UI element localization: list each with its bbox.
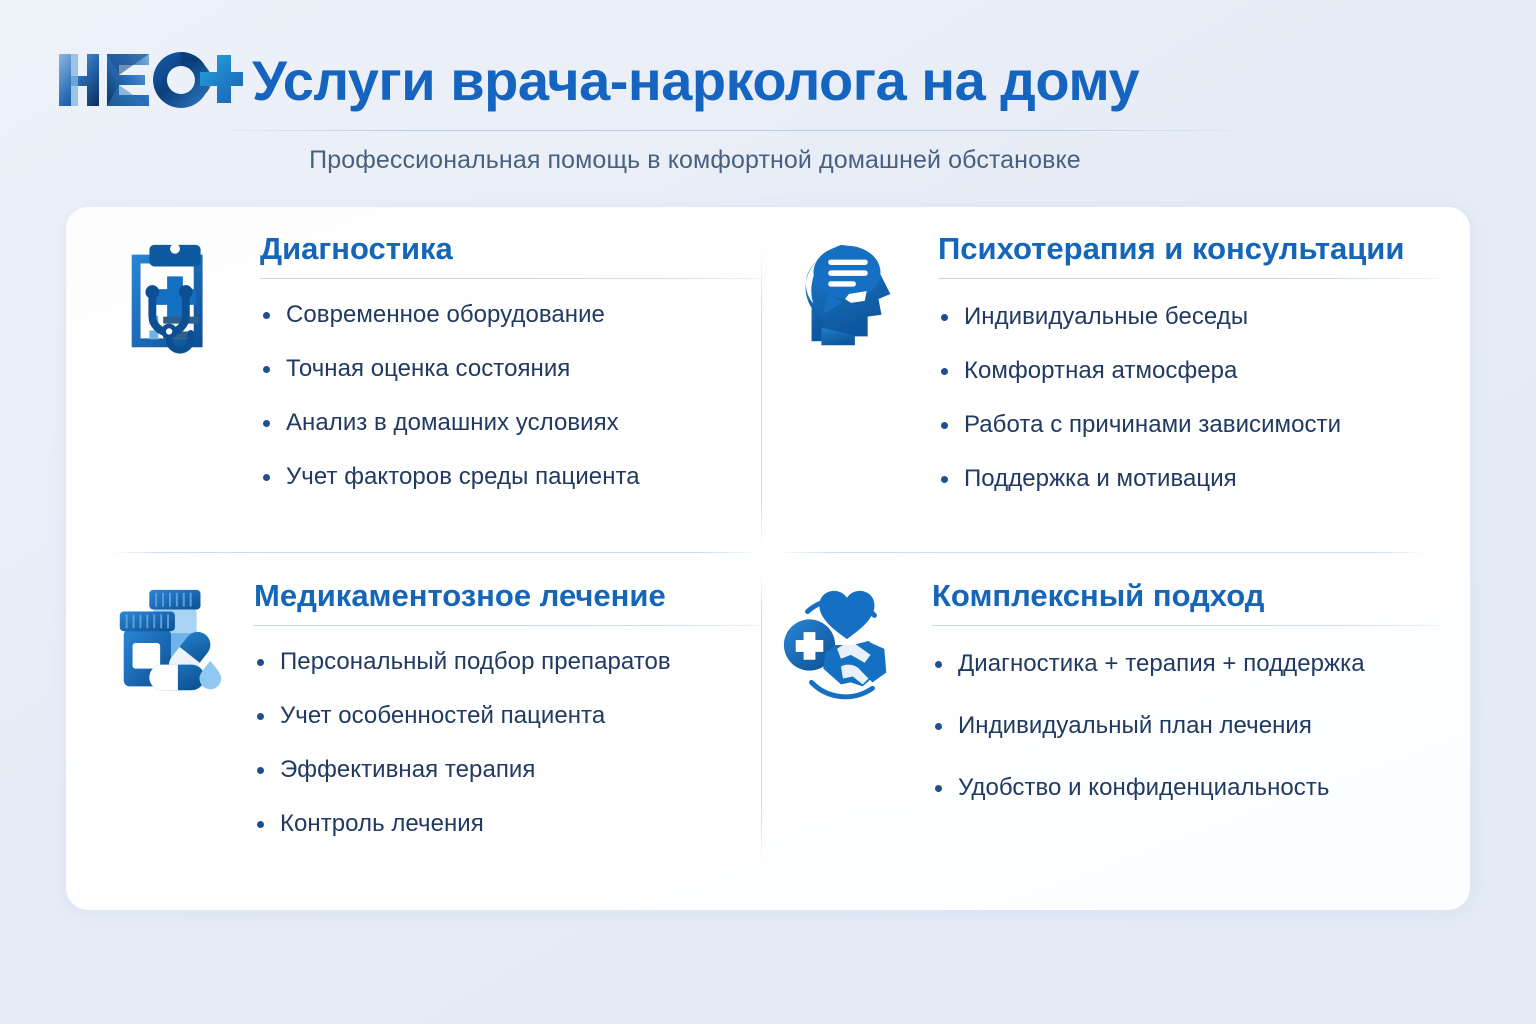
service-card-diagnostics[interactable]: Диагностика Современное оборудование Точ… <box>112 225 762 491</box>
bullet-dot <box>263 366 270 373</box>
card-bullet-list: Индивидуальные беседы Комфортная атмосфе… <box>938 303 1438 493</box>
service-card-psychotherapy[interactable]: Психотерапия и консультации Индивидуальн… <box>778 225 1438 493</box>
page-title: Услуги врача-нарколога на дому <box>252 52 1139 111</box>
bullet-dot <box>257 659 264 666</box>
bullet-dot <box>263 312 270 319</box>
list-item: Персональный подбор препаратов <box>254 648 762 676</box>
header-divider <box>232 130 1232 131</box>
list-item: Контроль лечения <box>254 810 762 838</box>
list-item-label: Контроль лечения <box>280 810 484 837</box>
card-title-underline <box>254 625 762 626</box>
bullet-dot <box>257 713 264 720</box>
list-item: Работа с причинами зависимости <box>938 411 1438 439</box>
head-speech-bubble-icon <box>784 233 910 359</box>
card-body: Психотерапия и консультации Индивидуальн… <box>938 225 1438 493</box>
page-subtitle: Профессиональная помощь в комфортной дом… <box>0 146 1390 175</box>
bullet-dot <box>263 420 270 427</box>
bullet-dot <box>257 821 264 828</box>
list-item: Точная оценка состояния <box>260 355 762 383</box>
card-title-underline <box>932 625 1438 626</box>
list-item: Индивидуальный план лечения <box>932 712 1438 740</box>
bullet-dot <box>941 422 948 429</box>
list-item-label: Диагностика + терапия + поддержка <box>958 650 1365 677</box>
list-item-label: Индивидуальные беседы <box>964 303 1248 330</box>
panel-divider-horizontal <box>110 552 1426 553</box>
list-item: Эффективная терапия <box>254 756 762 784</box>
card-title-underline <box>938 278 1438 279</box>
bullet-dot <box>935 661 942 668</box>
list-item-label: Персональный подбор препаратов <box>280 648 671 675</box>
bullet-dot <box>941 314 948 321</box>
list-item: Комфортная атмосфера <box>938 357 1438 385</box>
card-bullet-list: Современное оборудование Точная оценка с… <box>260 301 762 491</box>
list-item: Учет особенностей пациента <box>254 702 762 730</box>
card-title: Диагностика <box>260 231 762 267</box>
services-panel: Диагностика Современное оборудование Точ… <box>66 207 1470 910</box>
card-body: Комплексный подход Диагностика + терапия… <box>932 572 1438 836</box>
list-item-label: Работа с причинами зависимости <box>964 411 1341 438</box>
list-item-label: Комфортная атмосфера <box>964 357 1237 384</box>
heart-handshake-cross-icon <box>778 580 904 706</box>
list-item-label: Учет особенностей пациента <box>280 702 605 729</box>
bullet-dot <box>935 723 942 730</box>
bullet-dot <box>935 785 942 792</box>
list-item-label: Современное оборудование <box>286 301 605 328</box>
clipboard-stethoscope-icon <box>112 233 238 359</box>
list-item-label: Поддержка и мотивация <box>964 465 1237 492</box>
card-title: Психотерапия и консультации <box>938 231 1438 267</box>
list-item: Анализ в домашних условиях <box>260 409 762 437</box>
card-body: Медикаментозное лечение Персональный под… <box>254 572 762 838</box>
card-title: Медикаментозное лечение <box>254 578 762 614</box>
pill-bottles-capsules-icon <box>106 580 232 706</box>
list-item: Удобство и конфиденциальность <box>932 774 1438 802</box>
list-item-label: Точная оценка состояния <box>286 355 570 382</box>
card-title: Комплексный подход <box>932 578 1438 614</box>
list-item-label: Индивидуальный план лечения <box>958 712 1312 739</box>
list-item: Диагностика + терапия + поддержка <box>932 650 1438 678</box>
bullet-dot <box>941 476 948 483</box>
card-bullet-list: Диагностика + терапия + поддержка Индиви… <box>932 650 1438 802</box>
page-header: Услуги врача-нарколога на дому Профессио… <box>0 0 1536 200</box>
list-item: Поддержка и мотивация <box>938 465 1438 493</box>
card-bullet-list: Персональный подбор препаратов Учет особ… <box>254 648 762 838</box>
card-body: Диагностика Современное оборудование Точ… <box>260 225 762 491</box>
list-item-label: Учет факторов среды пациента <box>286 463 640 490</box>
card-title-underline <box>260 278 762 279</box>
bullet-dot <box>257 767 264 774</box>
list-item-label: Удобство и конфиденциальность <box>958 774 1329 801</box>
list-item: Учет факторов среды пациента <box>260 463 762 491</box>
list-item-label: Анализ в домашних условиях <box>286 409 619 436</box>
list-item-label: Эффективная терапия <box>280 756 535 783</box>
bullet-dot <box>263 474 270 481</box>
service-card-complex-approach[interactable]: Комплексный подход Диагностика + терапия… <box>778 572 1438 836</box>
list-item: Индивидуальные беседы <box>938 303 1438 331</box>
neo-plus-logo <box>57 44 243 114</box>
service-card-medication[interactable]: Медикаментозное лечение Персональный под… <box>112 572 762 838</box>
list-item: Современное оборудование <box>260 301 762 329</box>
bullet-dot <box>941 368 948 375</box>
